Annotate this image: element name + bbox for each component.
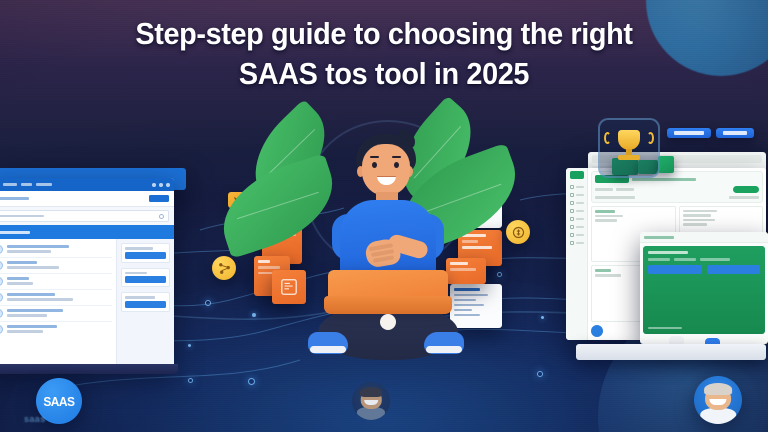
metric-value (595, 274, 621, 277)
nav-item[interactable] (21, 183, 32, 186)
promo-button[interactable] (648, 265, 702, 274)
grid-icon[interactable] (159, 183, 163, 187)
avatar-icon[interactable] (166, 183, 170, 187)
sidebar-item[interactable] (570, 217, 584, 221)
row-avatar-icon (0, 293, 3, 302)
row-avatar-icon (0, 309, 3, 318)
right-dashboard-mockup[interactable] (554, 152, 768, 367)
list-item[interactable] (0, 258, 112, 274)
banner-title: Step-step guide to choosing the right SA… (0, 14, 768, 95)
page-title (0, 197, 29, 200)
chart-icon (570, 201, 574, 205)
sidebar-item[interactable] (570, 233, 584, 237)
row-title (7, 325, 57, 328)
side-card-button[interactable] (125, 276, 166, 283)
secondary-cta-label (723, 131, 747, 135)
sidebar-item[interactable] (570, 209, 584, 213)
card-title (258, 260, 270, 263)
row-subtitle (7, 298, 73, 301)
folder-icon (570, 233, 574, 237)
sidebar-item-label (576, 226, 584, 229)
sidebar-item-label (576, 218, 584, 221)
left-dashboard-topbar (0, 178, 174, 191)
list-row (683, 214, 711, 217)
side-card[interactable] (121, 268, 170, 288)
hero-stat (616, 188, 634, 191)
promo-stat (700, 258, 730, 261)
row-avatar-icon (0, 325, 3, 334)
avatar-center[interactable] (352, 382, 390, 420)
primary-cta-label (674, 131, 704, 135)
floating-window-title (644, 236, 674, 239)
right-dashboard-stand (576, 344, 766, 360)
left-dashboard-nav[interactable] (3, 183, 52, 186)
hero-stat (595, 188, 613, 191)
sidebar-item[interactable] (570, 193, 584, 197)
bell-icon[interactable] (152, 183, 156, 187)
green-promo-panel (643, 246, 765, 334)
eye-right (394, 162, 399, 168)
nav-item[interactable] (3, 183, 17, 186)
title-line-2: SAAS tos tool in 2025 (27, 54, 741, 94)
shoe-right (424, 332, 464, 354)
list-item[interactable] (0, 274, 112, 290)
hero-caption (729, 196, 759, 199)
share-network-icon (218, 262, 231, 275)
right-dashboard-sidebar[interactable] (566, 168, 588, 340)
sidebar-item[interactable] (570, 185, 584, 189)
row-subtitle (7, 314, 47, 317)
search-icon[interactable] (159, 214, 164, 219)
primary-cta-button[interactable] (667, 128, 711, 138)
list-item[interactable] (0, 290, 112, 306)
side-card-label (125, 296, 155, 299)
row-subtitle (7, 250, 51, 253)
shoe-left (308, 332, 348, 354)
card-line (258, 266, 280, 269)
promo-stat (674, 258, 696, 261)
primary-action-button[interactable] (149, 195, 169, 202)
left-dashboard-list[interactable] (0, 239, 116, 368)
top-cta-button-group[interactable] (667, 128, 754, 138)
sidebar-item[interactable] (570, 241, 584, 245)
avatar-smile (364, 400, 378, 405)
trophy-handle-left-icon (604, 132, 611, 144)
metric-label (595, 210, 615, 213)
left-dashboard-top-icons[interactable] (152, 183, 170, 187)
brand-footer-text: saas (24, 414, 46, 424)
row-subtitle (7, 330, 43, 333)
laptop-logo-icon (380, 314, 396, 330)
eye-left (372, 162, 377, 168)
calendar-icon (570, 225, 574, 229)
sidebar-item-label (576, 242, 584, 245)
person-white-coat (669, 336, 684, 344)
coin-icon (512, 226, 525, 239)
floating-window-titlebar (640, 232, 768, 243)
trophy-base (618, 155, 640, 160)
avatar-body (700, 408, 736, 424)
floating-action-button[interactable] (591, 325, 603, 337)
left-dashboard-window[interactable] (0, 178, 174, 368)
metric-value (595, 219, 617, 222)
sidebar-item-label (576, 202, 584, 205)
nav-item[interactable] (36, 183, 52, 186)
list-item[interactable] (0, 242, 112, 258)
section-header-label (0, 231, 30, 234)
promo-title (648, 251, 688, 254)
title-line-1: Step-step guide to choosing the right (27, 14, 741, 54)
banner-canvas: Step-step guide to choosing the right SA… (0, 0, 768, 432)
left-dashboard-subheader (0, 191, 174, 207)
row-avatar-icon (0, 261, 3, 270)
hero-caption (595, 196, 635, 199)
metric-label (595, 269, 611, 272)
man-with-laptop-illustration (300, 118, 475, 376)
eyebrow-right (392, 156, 401, 158)
row-title (7, 261, 37, 264)
left-dashboard-sidebar[interactable] (116, 239, 174, 368)
hero-cta-button[interactable] (733, 186, 759, 193)
side-card[interactable] (121, 292, 170, 312)
row-avatar-icon (0, 245, 3, 254)
avatar-hair (360, 387, 382, 397)
sidebar-item-label (576, 186, 584, 189)
left-dashboard-stand (0, 364, 178, 374)
row-title (7, 309, 63, 312)
row-subtitle (7, 266, 59, 269)
row-title (7, 245, 69, 248)
mail-icon (570, 209, 574, 213)
section-header (0, 225, 174, 239)
avatar-right[interactable] (694, 376, 742, 424)
metric-value (595, 215, 623, 218)
list-row (683, 219, 715, 222)
saas-logo-text: SAAS (43, 394, 74, 409)
trophy-award-badge (598, 118, 660, 178)
green-mini-card (658, 156, 674, 173)
sidebar-item[interactable] (570, 201, 584, 205)
left-dashboard-body (0, 239, 174, 368)
eyebrow-left (370, 156, 379, 158)
coin-badge (506, 220, 530, 244)
row-subtitle (7, 282, 33, 285)
sidebar-item[interactable] (570, 225, 584, 229)
share-network-badge (212, 256, 236, 280)
side-card-button[interactable] (125, 252, 166, 259)
avatar-body (357, 407, 385, 420)
row-avatar-icon (0, 277, 3, 286)
home-icon (570, 185, 574, 189)
promo-footnote (648, 327, 682, 330)
phone-icon (570, 217, 574, 221)
promo-button[interactable] (707, 265, 761, 274)
laptop-base (324, 296, 452, 314)
side-card[interactable] (121, 243, 170, 263)
gear-icon (570, 241, 574, 245)
app-logo-icon (570, 171, 584, 179)
list-row (683, 223, 707, 226)
users-icon (570, 193, 574, 197)
row-title (7, 293, 55, 296)
sidebar-item-label (576, 234, 584, 237)
avatar-hair (704, 383, 732, 395)
sidebar-item-label (576, 210, 584, 213)
face (362, 144, 410, 196)
side-card-button[interactable] (125, 301, 166, 308)
left-dashboard-mockup[interactable] (0, 168, 188, 368)
promo-stat (648, 258, 670, 261)
secondary-cta-button[interactable] (716, 128, 754, 138)
search-placeholder-text (0, 215, 44, 218)
row-title (7, 277, 29, 280)
side-card-label (125, 247, 153, 250)
sidebar-item-label (576, 194, 584, 197)
list-item[interactable] (0, 322, 112, 337)
trophy-handle-right-icon (647, 132, 654, 144)
side-card-label (125, 272, 147, 275)
right-dashboard-floating-window[interactable] (640, 232, 768, 344)
search-input[interactable] (0, 210, 169, 222)
list-row (683, 210, 717, 213)
list-item[interactable] (0, 306, 112, 322)
document-icon (280, 278, 298, 296)
